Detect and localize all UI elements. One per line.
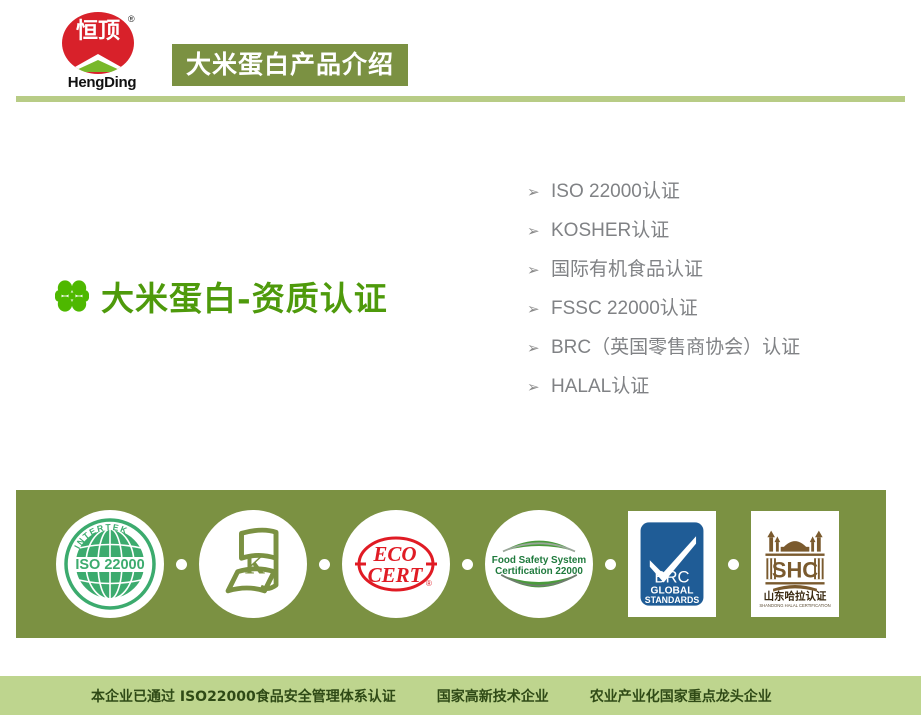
list-item: ➢ HALAL认证	[527, 367, 907, 406]
list-item: ➢ FSSC 22000认证	[527, 289, 907, 328]
cert-logo-brc: BRC GLOBAL STANDARDS	[628, 511, 716, 617]
cert-logo-intertek-iso22000: ISO 22000 INTERTEK	[56, 510, 164, 618]
ecocert-icon: ECO CERT ®	[346, 514, 446, 614]
arrow-bullet-icon: ➢	[527, 173, 551, 212]
band-separator-dot	[605, 559, 616, 570]
cert-logo-fssc22000: Food Safety System Certification 22000	[485, 510, 593, 618]
arrow-bullet-icon: ➢	[527, 290, 551, 329]
hengding-brand-logo-icon: 恒顶	[62, 12, 134, 74]
list-item-label: FSSC 22000认证	[551, 289, 698, 328]
logo-mountain-icon	[66, 52, 130, 72]
page-header: 恒顶 ® HengDing 大米蛋白产品介绍	[0, 0, 921, 100]
fssc-line2: Certification 22000	[495, 566, 583, 577]
header-divider	[16, 96, 905, 102]
list-item-label: KOSHER认证	[551, 211, 669, 250]
list-item-label: HALAL认证	[551, 367, 649, 406]
fssc-line1: Food Safety System	[492, 555, 587, 566]
brc-line1: BRC	[654, 568, 689, 587]
ecocert-registered-mark-icon: ®	[426, 579, 432, 588]
footer-item-certification: 本企业已通过 ISO22000食品安全管理体系认证	[91, 686, 396, 706]
list-item-label: ISO 22000认证	[551, 172, 680, 211]
section-heading: 大米蛋白-资质认证	[55, 272, 388, 320]
list-item: ➢ BRC（英国零售商协会）认证	[527, 328, 907, 367]
shc-line2: SHANDONG HALAL CERTIFICATION	[759, 603, 830, 608]
arrow-bullet-icon: ➢	[527, 251, 551, 290]
intertek-iso22000-icon: ISO 22000 INTERTEK	[60, 514, 160, 614]
kosher-k-icon: K	[205, 516, 301, 612]
page-title-banner: 大米蛋白产品介绍	[172, 44, 408, 86]
section-heading-text: 大米蛋白-资质认证	[101, 272, 388, 320]
certification-list: ➢ ISO 22000认证 ➢ KOSHER认证 ➢ 国际有机食品认证 ➢ FS…	[527, 172, 907, 406]
shc-line1: 山东哈拉认证	[764, 589, 827, 602]
cert-logo-shc-halal: SHC 山东哈拉认证 SHANDONG HALAL CERTIFICATION	[751, 511, 839, 617]
shc-main-text: SHC	[772, 557, 818, 582]
shc-shandong-halal-icon: SHC 山东哈拉认证 SHANDONG HALAL CERTIFICATION	[754, 518, 836, 610]
list-item: ➢ ISO 22000认证	[527, 172, 907, 211]
brand-logo: 恒顶 ® HengDing	[48, 12, 156, 92]
kosher-letter: K	[245, 551, 265, 580]
cert-logo-kosher: K	[199, 510, 307, 618]
brc-line3: STANDARDS	[645, 595, 700, 605]
list-item: ➢ KOSHER认证	[527, 211, 907, 250]
band-separator-dot	[462, 559, 473, 570]
registered-trademark-icon: ®	[128, 14, 135, 24]
certification-logo-band: ISO 22000 INTERTEK K	[16, 490, 886, 638]
page-title: 大米蛋白产品介绍	[186, 44, 394, 86]
arrow-bullet-icon: ➢	[527, 329, 551, 368]
brc-global-standards-icon: BRC GLOBAL STANDARDS	[635, 519, 709, 609]
band-separator-dot	[176, 559, 187, 570]
fssc-22000-icon: Food Safety System Certification 22000	[485, 517, 593, 611]
logo-romanized-name: HengDing	[48, 74, 156, 91]
arrow-bullet-icon: ➢	[527, 212, 551, 251]
list-item-label: 国际有机食品认证	[551, 250, 703, 289]
footer-item-leading-enterprise: 农业产业化国家重点龙头企业	[590, 686, 772, 706]
page-footer: 本企业已通过 ISO22000食品安全管理体系认证 国家高新技术企业 农业产业化…	[0, 676, 921, 715]
band-separator-dot	[319, 559, 330, 570]
flower-bullet-icon	[55, 279, 89, 313]
cert-logo-ecocert: ECO CERT ®	[342, 510, 450, 618]
list-item-label: BRC（英国零售商协会）认证	[551, 328, 800, 367]
intertek-main-text: ISO 22000	[75, 557, 144, 573]
footer-item-hightech: 国家高新技术企业	[437, 686, 549, 706]
band-separator-dot	[728, 559, 739, 570]
list-item: ➢ 国际有机食品认证	[527, 250, 907, 289]
logo-chinese-characters: 恒顶	[62, 19, 134, 45]
arrow-bullet-icon: ➢	[527, 368, 551, 407]
ecocert-line2: CERT	[368, 563, 424, 587]
